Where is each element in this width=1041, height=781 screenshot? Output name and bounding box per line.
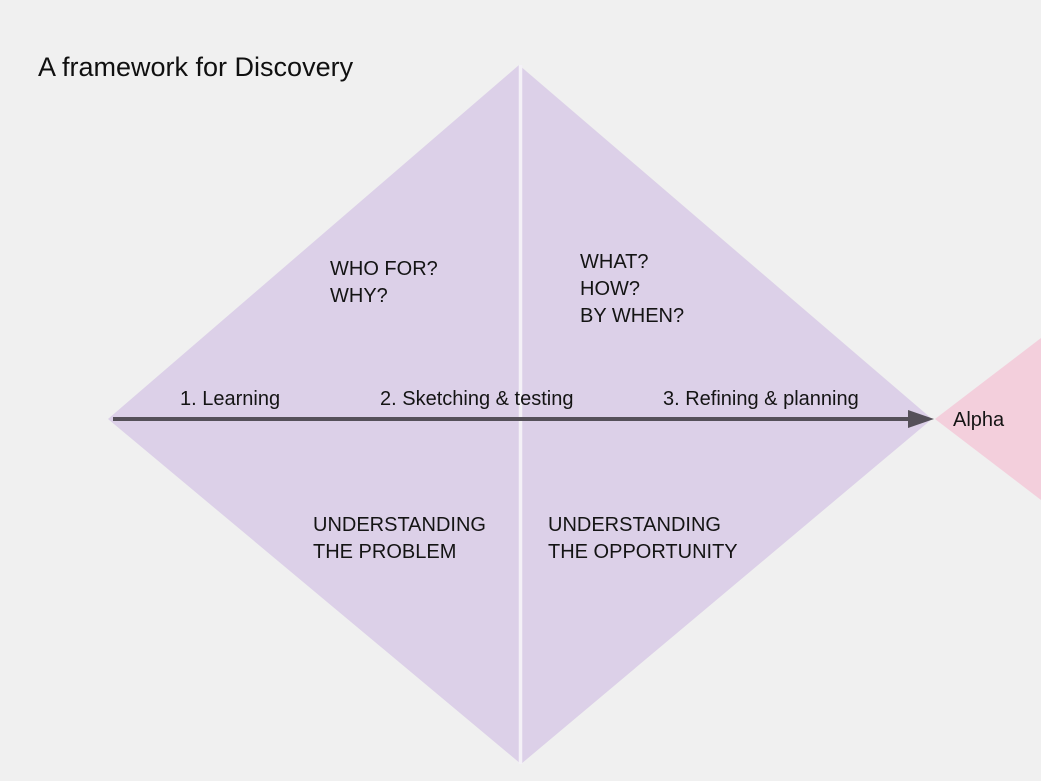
quadrant-label-lower-right: UNDERSTANDING THE OPPORTUNITY — [548, 512, 738, 566]
milestone-label-alpha: Alpha — [953, 407, 1004, 434]
phase-label-learning: 1. Learning — [180, 388, 280, 411]
slide-canvas: A framework for Discovery WHO FOR? WHY? … — [0, 0, 1041, 781]
quadrant-label-upper-left: WHO FOR? WHY? — [330, 256, 438, 310]
page-title: A framework for Discovery — [38, 50, 353, 84]
quadrant-label-upper-right: WHAT? HOW? BY WHEN? — [580, 249, 684, 330]
quadrant-label-lower-left: UNDERSTANDING THE PROBLEM — [313, 512, 486, 566]
phase-label-refining-planning: 3. Refining & planning — [663, 388, 859, 411]
phase-label-sketching-testing: 2. Sketching & testing — [380, 388, 573, 411]
